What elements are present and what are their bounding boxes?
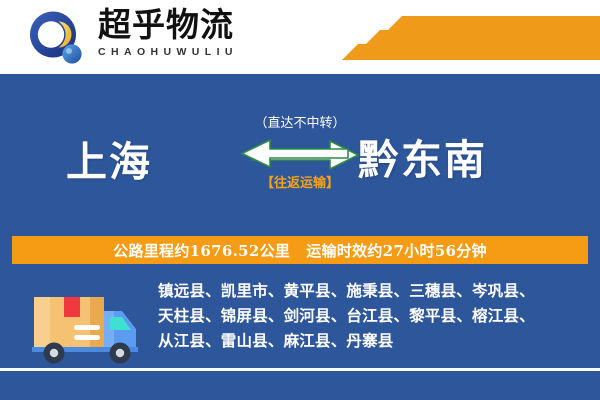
logistics-route-banner: 超乎物流 CHAOHUWULIU 上海 （直达不中转） [0,0,600,400]
brand-name-en: CHAOHUWULIU [98,46,328,58]
delivery-truck-icon [28,283,146,365]
duration-text: 运输时效约27小时56分钟 [306,240,487,261]
distance-text: 公路里程约1676.52公里 [113,240,290,261]
route-middle-block: （直达不中转） 【往返运输】 [238,116,362,192]
circular-q-logo-icon [28,10,86,66]
brand-name-cn: 超乎物流 [98,6,328,44]
county-line: 镇远县、凯里市、黄平县、施秉县、三穗县、岑巩县、 [158,278,582,303]
speed-stripes-icon [340,6,600,68]
county-line: 天柱县、锦屏县、剑河县、台江县、黎平县、榕江县、 [158,303,582,328]
banner-footer [0,371,600,400]
county-line: 从江县、雷山县、麻江县、丹寨县 [158,328,582,353]
bidirectional-arrow-icon [238,138,362,172]
destination-city: 黔东南 [358,126,487,186]
banner-header: 超乎物流 CHAOHUWULIU [0,0,600,74]
origin-city: 上海 [66,128,152,188]
direct-shipping-note: （直达不中转） [238,116,362,132]
coverage-county-list: 镇远县、凯里市、黄平县、施秉县、三穗县、岑巩县、 天柱县、锦屏县、剑河县、台江县… [158,278,582,353]
roundtrip-note: 【往返运输】 [238,176,362,192]
brand-lockup: 超乎物流 CHAOHUWULIU [98,6,328,58]
route-info-bar: 公路里程约1676.52公里 运输时效约27小时56分钟 [12,236,588,264]
route-row: 上海 （直达不中转） 【往返运输】 黔东南 [0,74,600,230]
